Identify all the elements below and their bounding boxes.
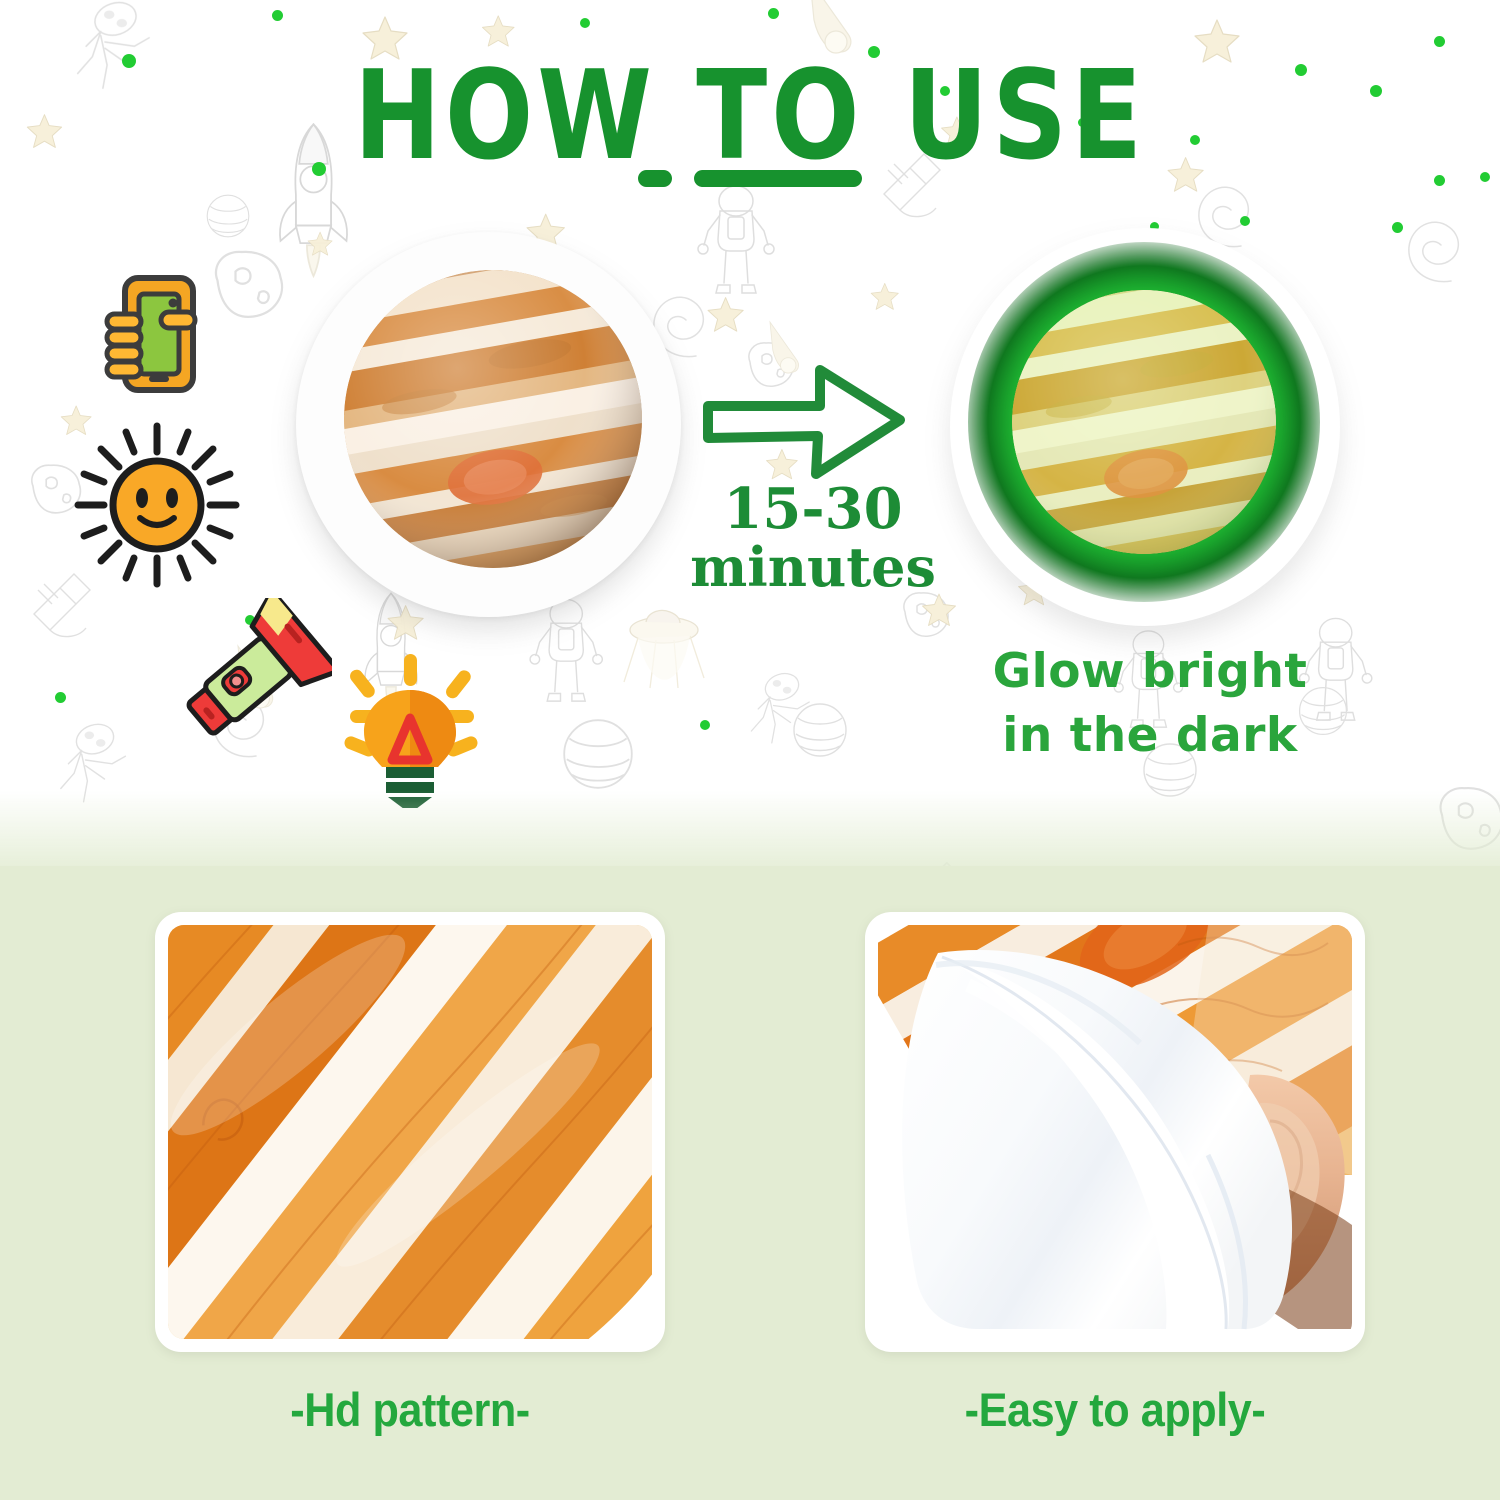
sticker-glowing — [950, 228, 1340, 626]
how-to-use-section: HOW TO USE — [0, 0, 1500, 880]
underline-bar — [694, 170, 862, 187]
page-title-wrap: HOW TO USE — [0, 52, 1500, 161]
features-section: -Hd pattern- — [0, 866, 1500, 1500]
duration-line-2: minutes — [668, 539, 958, 596]
right-arrow-icon — [700, 362, 910, 482]
phone-icon — [95, 272, 215, 397]
title-underline — [0, 170, 1500, 187]
feature-card-hd-pattern — [155, 912, 665, 1352]
feature-caption-hd-pattern: -Hd pattern- — [175, 1382, 644, 1437]
glow-caption: Glow bright in the dark — [960, 640, 1340, 768]
easy-apply-photo — [878, 925, 1352, 1339]
lightbulb-icon — [330, 648, 490, 808]
underline-dot — [638, 170, 672, 187]
glow-caption-line-1: Glow bright — [993, 644, 1308, 699]
product-infographic: HOW TO USE — [0, 0, 1500, 1500]
duration-line-1: 15-30 — [723, 476, 902, 542]
feature-caption-easy-apply: -Easy to apply- — [885, 1382, 1345, 1437]
jupiter-image-normal — [344, 270, 642, 568]
sticker-normal — [296, 232, 681, 617]
flashlight-icon — [172, 598, 332, 753]
glow-halo — [968, 242, 1320, 602]
glow-caption-line-2: in the dark — [1002, 708, 1297, 763]
feature-card-easy-apply — [865, 912, 1365, 1352]
jupiter-image-glowing — [1012, 290, 1276, 554]
charge-duration: 15-30 minutes — [668, 480, 958, 595]
sun-icon — [72, 420, 242, 590]
hd-pattern-photo — [168, 925, 652, 1339]
page-title: HOW TO USE — [0, 52, 1500, 181]
